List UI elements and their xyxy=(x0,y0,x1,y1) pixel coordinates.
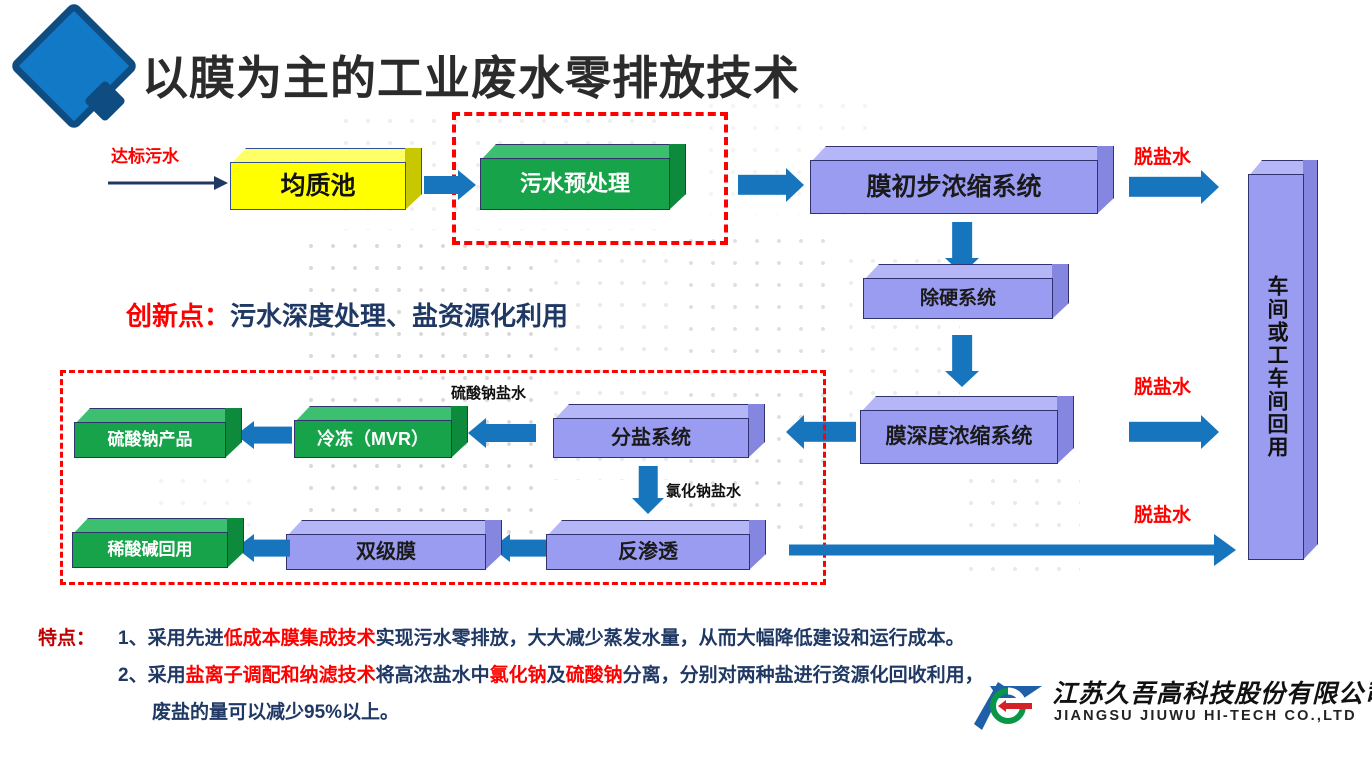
arrow-desalted-water-1-icon xyxy=(1129,170,1219,204)
innovation-value: 污水深度处理、盐资源化利用 xyxy=(230,301,568,331)
stream-label-sodium-sulfate-brine: 硫酸钠盐水 xyxy=(451,382,526,403)
feature-item-1: 1、采用先进低成本膜集成技术实现污水零排放，大大减少蒸发水量，从而大幅降低建设和… xyxy=(118,620,1038,657)
diamond-large-icon xyxy=(9,1,139,131)
box-label: 均质池 xyxy=(230,162,406,210)
feature-2-p5: 废盐的量可以减少95%以上。 xyxy=(152,694,1038,731)
box-label: 除硬系统 xyxy=(863,278,1053,319)
arrow-membrane-to-reuse-icon xyxy=(236,534,290,562)
box-sewage-pretreatment[interactable]: 污水预处理 xyxy=(480,144,670,210)
arrow-salt-separation-to-freezing-icon xyxy=(468,418,536,448)
features-tag: 特点： xyxy=(38,620,95,657)
box-label: 稀酸碱回用 xyxy=(72,532,228,568)
feature-1-hl1: 低成本膜集成技术 xyxy=(224,628,376,649)
feature-2-hl1: 盐离子调配和纳滤技术 xyxy=(186,665,376,686)
diamond-logo-icon xyxy=(18,14,138,134)
box-label: 膜深度浓缩系统 xyxy=(860,410,1058,464)
feature-2-num: 2、 xyxy=(118,665,148,686)
box-reverse-osmosis[interactable]: 反渗透 xyxy=(546,520,750,570)
company-mark-icon xyxy=(968,672,1048,734)
stream-label-desalted-water-1: 脱盐水 xyxy=(1134,142,1191,169)
box-freezing-mvr[interactable]: 冷冻（MVR） xyxy=(294,406,452,458)
box-salt-separation[interactable]: 分盐系统 xyxy=(553,404,749,458)
innovation-point: 创新点：污水深度处理、盐资源化利用 xyxy=(126,296,568,333)
company-name-cn: 江苏久吾高科技股份有限公司 xyxy=(1052,674,1372,710)
box-dilute-acid-alkali-reuse[interactable]: 稀酸碱回用 xyxy=(72,518,228,568)
company-logo: 江苏久吾高科技股份有限公司 JIANGSU JIUWU HI-TECH CO.,… xyxy=(968,676,1368,746)
arrow-to-reverse-osmosis-icon xyxy=(632,466,664,514)
box-membrane-primary-concentration[interactable]: 膜初步浓缩系统 xyxy=(810,146,1098,214)
company-name-en: JIANGSU JIUWU HI-TECH CO.,LTD xyxy=(1054,708,1357,724)
features-lines: 1、采用先进低成本膜集成技术实现污水零排放，大大减少蒸发水量，从而大幅降低建设和… xyxy=(118,620,1038,731)
slide-canvas: 以膜为主的工业废水零排放技术 达标污水 均质池 污水预处理 膜初步浓缩系统 脱盐… xyxy=(0,0,1372,761)
box-label: 分盐系统 xyxy=(553,418,749,458)
arrow-pretreatment-to-membrane-icon xyxy=(738,168,804,202)
box-label: 硫酸钠产品 xyxy=(74,422,226,458)
stream-label-desalted-water-3: 脱盐水 xyxy=(1134,500,1191,527)
feature-2-p1: 采用 xyxy=(148,665,186,686)
arrow-desalted-water-3-icon xyxy=(789,534,1236,566)
innovation-key: 创新点： xyxy=(126,301,230,331)
box-membrane-deep-concentration[interactable]: 膜深度浓缩系统 xyxy=(860,396,1058,464)
feature-item-2: 2、采用盐离子调配和纳滤技术将高浓盐水中氯化钠及硫酸钠分离，分别对两种盐进行资源… xyxy=(118,657,1038,731)
feature-1-p1: 采用先进 xyxy=(148,628,224,649)
box-label: 双级膜 xyxy=(286,534,486,570)
feature-2-hl2: 氯化钠 xyxy=(490,665,547,686)
box-label: 反渗透 xyxy=(546,534,750,570)
arrow-freezing-to-product-icon xyxy=(236,421,292,449)
box-equalization-tank[interactable]: 均质池 xyxy=(230,148,406,210)
box-workshop-reuse[interactable]: 车间或工车间回用 xyxy=(1248,160,1304,560)
box-label: 膜初步浓缩系统 xyxy=(810,160,1098,214)
feature-1-p2: 实现污水零排放，大大减少蒸发水量，从而大幅降低建设和运行成本。 xyxy=(376,628,965,649)
arrow-to-deep-concentration-icon xyxy=(945,335,979,387)
feature-1-num: 1、 xyxy=(118,628,148,649)
page-title: 以膜为主的工业废水零排放技术 xyxy=(142,42,800,108)
feature-2-p3: 及 xyxy=(547,665,566,686)
box-label: 车间或工车间回用 xyxy=(1265,275,1287,459)
box-hardness-removal[interactable]: 除硬系统 xyxy=(863,264,1053,319)
arrow-tank-to-pretreatment-icon xyxy=(424,170,476,200)
feature-2-p2: 将高浓盐水中 xyxy=(376,665,490,686)
feature-2-hl3: 硫酸钠 xyxy=(566,665,623,686)
stream-label-sodium-chloride-brine: 氯化钠盐水 xyxy=(666,480,741,501)
box-sodium-sulfate-product[interactable]: 硫酸钠产品 xyxy=(74,408,226,458)
stream-label-desalted-water-2: 脱盐水 xyxy=(1134,372,1191,399)
inlet-label: 达标污水 xyxy=(111,142,179,167)
feature-2-p4: 分离，分别对两种盐进行资源化回收利用， xyxy=(623,665,984,686)
box-label: 污水预处理 xyxy=(480,158,670,210)
box-label: 冷冻（MVR） xyxy=(294,420,452,458)
inlet-arrow-icon xyxy=(108,175,228,191)
arrow-desalted-water-2-icon xyxy=(1129,415,1219,449)
features-block: 特点： 1、采用先进低成本膜集成技术实现污水零排放，大大减少蒸发水量，从而大幅降… xyxy=(38,620,1038,731)
box-two-stage-membrane[interactable]: 双级膜 xyxy=(286,520,486,570)
